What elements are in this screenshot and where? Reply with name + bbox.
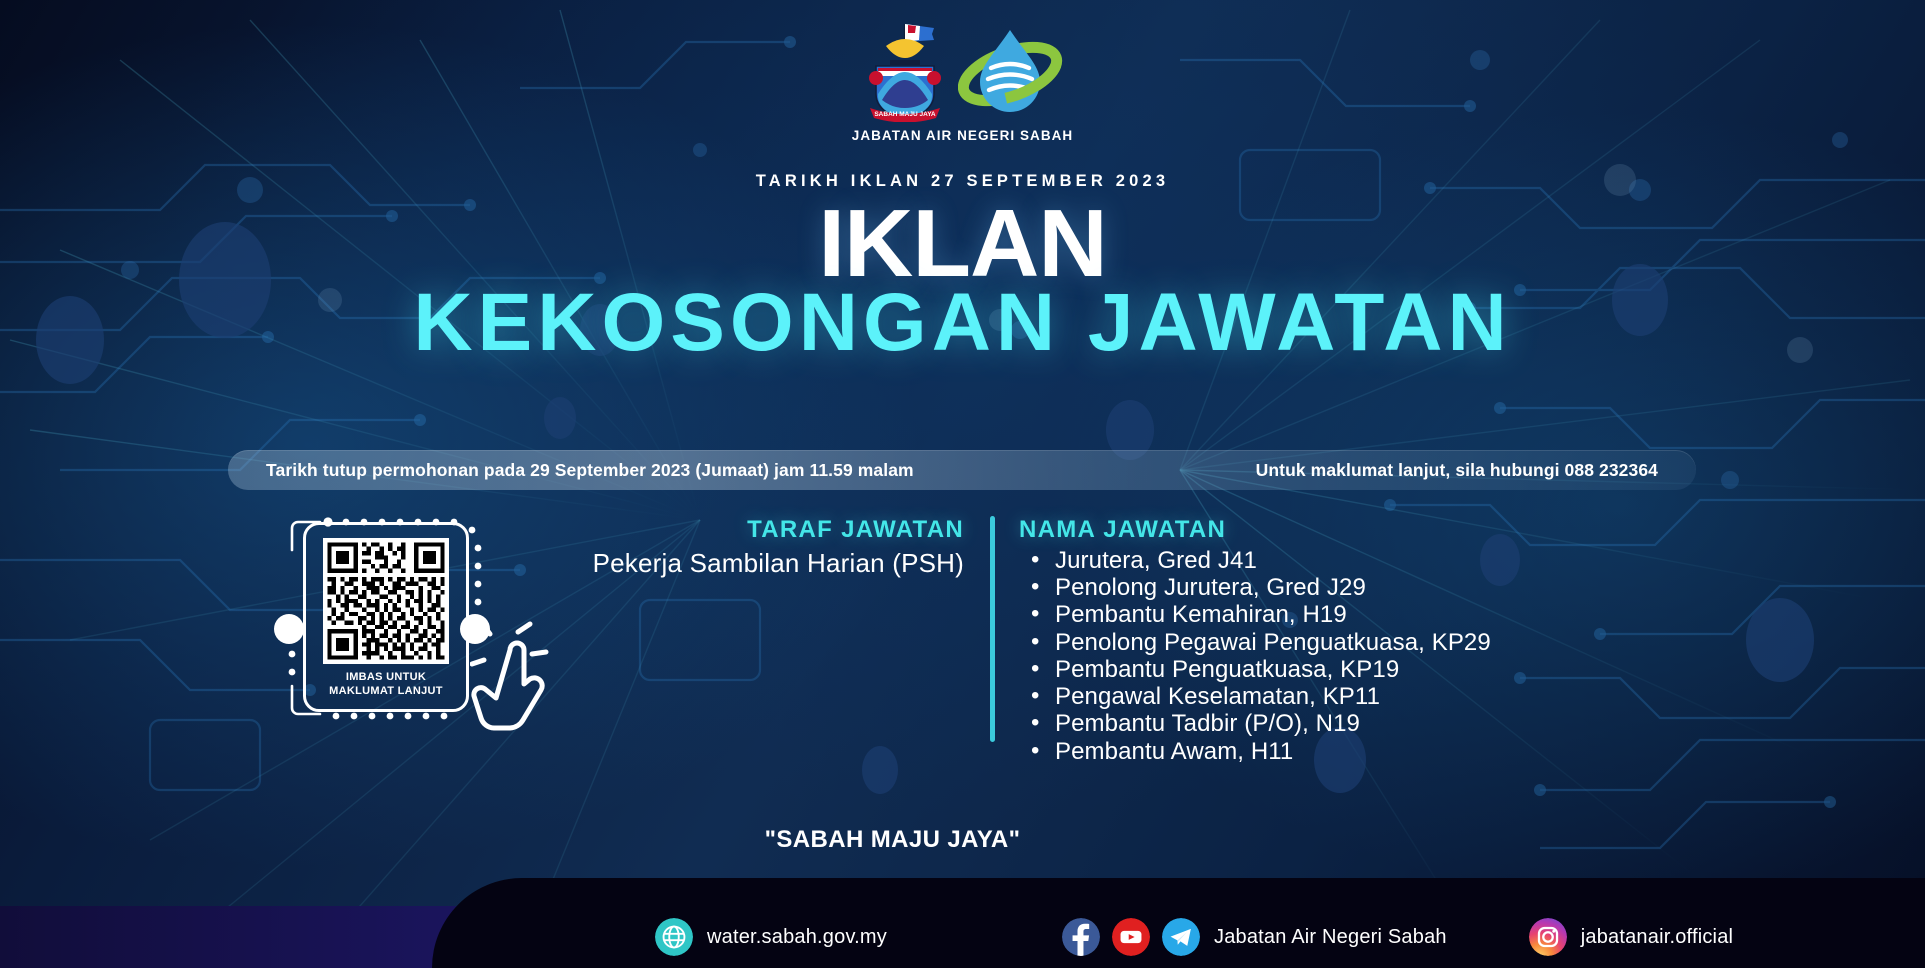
logo-row: SABAH MAJU JAYA [862, 16, 1063, 122]
footer-instagram-item[interactable]: jabatanair.official [1529, 918, 1733, 956]
footer-content: water.sabah.gov.my Jabatan [0, 906, 1925, 968]
taraf-jawatan-column: TARAF JAWATAN Pekerja Sambilan Harian (P… [560, 516, 990, 765]
column-divider [990, 516, 995, 742]
qr-caption-line1: IMBAS UNTUK [329, 671, 443, 685]
qr-block[interactable]: IMBAS UNTUK MAKLUMAT LANJUT [280, 508, 500, 728]
footer-instagram-label[interactable]: jabatanair.official [1581, 926, 1733, 949]
sabah-state-crest-icon: SABAH MAJU JAYA [862, 16, 948, 122]
job-position-list: Jurutera, Gred J41Penolong Jurutera, Gre… [1019, 547, 1491, 765]
instagram-icon[interactable] [1529, 918, 1567, 956]
youtube-icon[interactable] [1112, 918, 1150, 956]
nama-jawatan-column: NAMA JAWATAN Jurutera, Gred J41Penolong … [995, 516, 1491, 765]
closing-date-text: Tarikh tutup permohonan pada 29 Septembe… [266, 460, 914, 481]
footer-website-item[interactable]: water.sabah.gov.my [655, 918, 887, 956]
nama-jawatan-heading: NAMA JAWATAN [1019, 516, 1491, 544]
qr-knob-left [274, 614, 304, 644]
water-droplet-orbit-icon [958, 22, 1063, 122]
footer-website-label[interactable]: water.sabah.gov.my [707, 926, 887, 949]
poster-root: SABAH MAJU JAYA JABATAN AIR NEGERI SABAH… [0, 0, 1925, 968]
job-position-item: Pengawal Keselamatan, KP11 [1019, 683, 1491, 710]
job-position-item: Penolong Jurutera, Gred J29 [1019, 574, 1491, 601]
taraf-jawatan-heading: TARAF JAWATAN [560, 516, 964, 544]
qr-code-icon[interactable] [323, 538, 449, 664]
qr-caption: IMBAS UNTUK MAKLUMAT LANJUT [329, 671, 443, 699]
logo-caption: JABATAN AIR NEGERI SABAH [852, 128, 1073, 143]
contact-text: Untuk maklumat lanjut, sila hubungi 088 … [1256, 460, 1658, 481]
qr-card[interactable]: IMBAS UNTUK MAKLUMAT LANJUT [303, 522, 469, 712]
job-position-item: Jurutera, Gred J41 [1019, 547, 1491, 574]
footer-social-icons [1062, 918, 1200, 956]
footer-social-label[interactable]: Jabatan Air Negeri Sabah [1214, 926, 1447, 949]
globe-icon[interactable] [655, 918, 693, 956]
job-position-item: Pembantu Penguatkuasa, KP19 [1019, 656, 1491, 683]
advert-date-line: TARIKH IKLAN 27 SEPTEMBER 2023 [0, 172, 1925, 191]
logo-header: SABAH MAJU JAYA JABATAN AIR NEGERI SABAH [0, 16, 1925, 143]
job-position-item: Pembantu Awam, H11 [1019, 738, 1491, 765]
job-position-item: Pembantu Tadbir (P/O), N19 [1019, 710, 1491, 737]
svg-text:SABAH MAJU JAYA: SABAH MAJU JAYA [874, 111, 936, 118]
job-position-item: Penolong Pegawai Penguatkuasa, KP29 [1019, 629, 1491, 656]
title-kekosongan-jawatan: KEKOSONGAN JAWATAN [0, 282, 1925, 364]
job-position-item: Pembantu Kemahiran, H19 [1019, 601, 1491, 628]
telegram-icon[interactable] [1162, 918, 1200, 956]
info-banner: Tarikh tutup permohonan pada 29 Septembe… [228, 450, 1696, 490]
jobs-section: TARAF JAWATAN Pekerja Sambilan Harian (P… [560, 516, 1560, 765]
tagline: "SABAH MAJU JAYA" [0, 826, 1925, 854]
footer-social-item[interactable]: Jabatan Air Negeri Sabah [1062, 918, 1447, 956]
facebook-icon[interactable] [1062, 918, 1100, 956]
taraf-jawatan-value: Pekerja Sambilan Harian (PSH) [560, 548, 964, 579]
qr-caption-line2: MAKLUMAT LANJUT [329, 685, 443, 699]
